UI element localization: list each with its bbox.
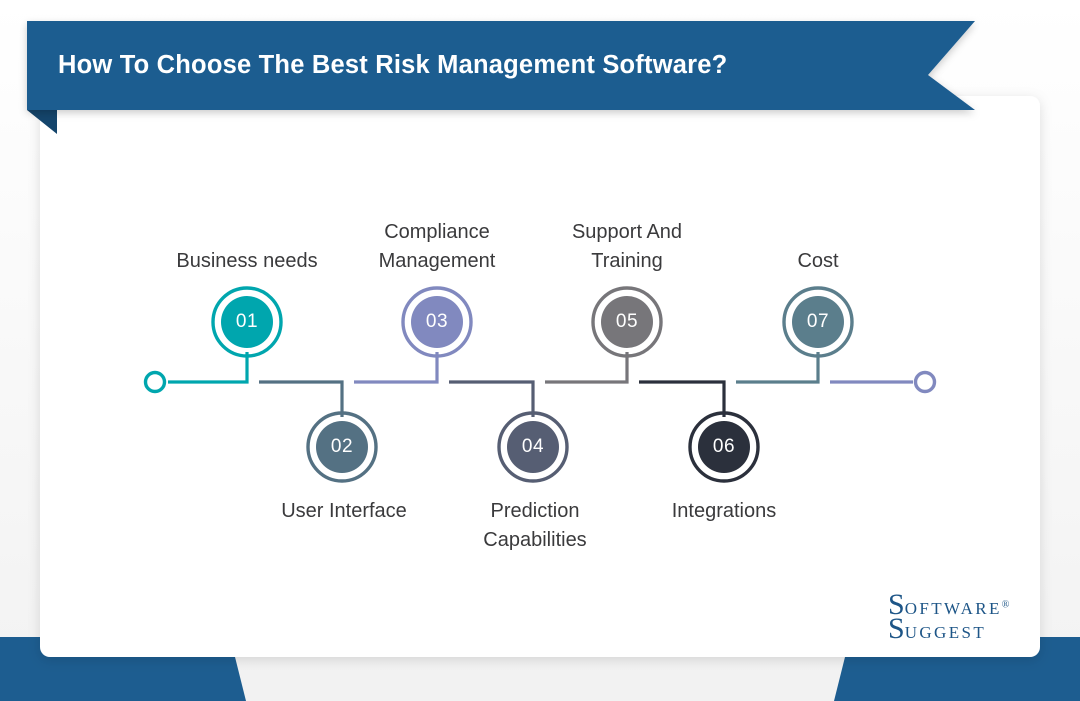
node-number-05[interactable]: 05 (601, 296, 653, 348)
node-label-01: 01 (236, 311, 258, 333)
node-number-01[interactable]: 01 (221, 296, 273, 348)
brand-logo-line2-capital: S (888, 612, 905, 645)
brand-logo-line2-rest: UGGEST (905, 623, 986, 642)
infographic-canvas: How To Choose The Best Risk Management S… (0, 0, 1080, 701)
node-number-06[interactable]: 06 (698, 421, 750, 473)
node-number-07[interactable]: 07 (792, 296, 844, 348)
registered-mark-icon: ® (1002, 600, 1010, 611)
node-label-07: 07 (807, 311, 829, 333)
node-label-03: 03 (426, 311, 448, 333)
node-number-04[interactable]: 04 (507, 421, 559, 473)
timeline-end-cap (916, 373, 935, 392)
brand-logo[interactable]: SOFTWARE® SUGGEST (888, 590, 1009, 644)
node-label-05: 05 (616, 311, 638, 333)
node-label-06: 06 (713, 436, 735, 458)
node-label-02: 02 (331, 436, 353, 458)
step-title-06: Integrations (609, 497, 839, 526)
timeline-start-cap (146, 373, 165, 392)
content-card (40, 96, 1040, 657)
node-number-03[interactable]: 03 (411, 296, 463, 348)
step-title-07: Cost (703, 247, 933, 276)
node-number-02[interactable]: 02 (316, 421, 368, 473)
node-label-04: 04 (522, 436, 544, 458)
page-title: How To Choose The Best Risk Management S… (58, 44, 898, 86)
